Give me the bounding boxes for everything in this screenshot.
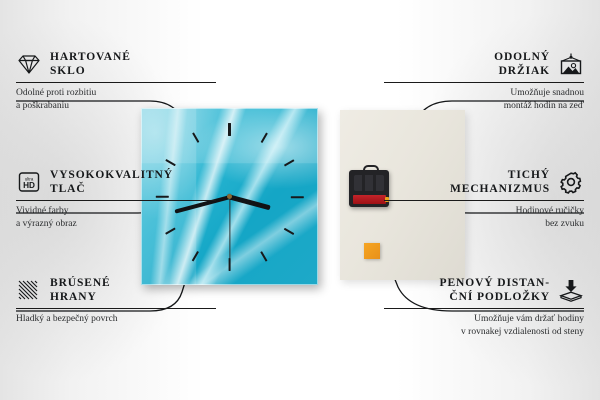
divider: [16, 308, 216, 309]
feature-subtitle: Hodinové ručičky bez zvuku: [384, 205, 584, 231]
picture-hanger-icon: [558, 52, 584, 76]
feature-subtitle: Umožňuje vám držať hodiny v rovnakej vzd…: [384, 313, 584, 339]
clock-center-pin: [227, 194, 232, 199]
feature-title: PENOVÝ DISTAN- ČNÍ PODLOŽKY: [440, 276, 550, 304]
feature-foam-spacers: PENOVÝ DISTAN- ČNÍ PODLOŽKY Umožňuje vám…: [384, 276, 584, 339]
infographic-canvas: HARTOVANÉ SKLO Odolné proti rozbitiu a p…: [0, 0, 600, 400]
feature-title: HARTOVANÉ SKLO: [50, 50, 131, 78]
divider: [384, 308, 584, 309]
feature-tempered-glass: HARTOVANÉ SKLO Odolné proti rozbitiu a p…: [16, 50, 216, 113]
ultra-hd-icon: ultra HD: [16, 170, 42, 194]
feature-header: TICHÝ MECHANIZMUS: [384, 168, 584, 196]
foam-spacer-image: [364, 243, 380, 259]
svg-text:HD: HD: [23, 181, 35, 190]
hatched-edge-icon: [16, 278, 42, 302]
mechanism-housing: [354, 175, 384, 191]
feature-high-quality-print: ultra HD VYSOKOKVALITNÝ TLAČ Vividné far…: [16, 168, 216, 231]
hanger-loop-icon: [363, 165, 379, 175]
divider: [16, 82, 216, 83]
clock-second-hand: [229, 197, 230, 259]
feature-title: BRÚSENÉ HRANY: [50, 276, 111, 304]
battery-image: [353, 195, 386, 204]
diamond-icon: [16, 52, 42, 76]
feature-durable-hanger: ODOLNÝ DRŽIAK Umožňuje snadnou montáž ho…: [384, 50, 584, 113]
feature-header: PENOVÝ DISTAN- ČNÍ PODLOŽKY: [384, 276, 584, 304]
feature-title: ODOLNÝ DRŽIAK: [494, 50, 550, 78]
feature-subtitle: Hladký a bezpečný povrch: [16, 313, 216, 326]
feature-title: TICHÝ MECHANIZMUS: [450, 168, 550, 196]
feature-header: HARTOVANÉ SKLO: [16, 50, 216, 78]
feature-header: ultra HD VYSOKOKVALITNÝ TLAČ: [16, 168, 216, 196]
divider: [384, 200, 584, 201]
clock-tick-12: [229, 123, 231, 197]
quartz-mechanism-image: [349, 170, 389, 207]
divider: [16, 200, 216, 201]
feature-silent-mechanism: TICHÝ MECHANIZMUS Hodinové ručičky bez z…: [384, 168, 584, 231]
foam-pad-icon: [558, 278, 584, 302]
divider: [384, 82, 584, 83]
feature-title: VYSOKOKVALITNÝ TLAČ: [50, 168, 173, 196]
feature-subtitle: Vividné farby a výrazný obraz: [16, 205, 216, 231]
feature-subtitle: Umožňuje snadnou montáž hodin na zeď: [384, 87, 584, 113]
gear-icon: [558, 170, 584, 194]
feature-header: BRÚSENÉ HRANY: [16, 276, 216, 304]
feature-ground-edges: BRÚSENÉ HRANY Hladký a bezpečný povrch: [16, 276, 216, 326]
feature-subtitle: Odolné proti rozbitiu a poškrabaniu: [16, 87, 216, 113]
feature-header: ODOLNÝ DRŽIAK: [384, 50, 584, 78]
